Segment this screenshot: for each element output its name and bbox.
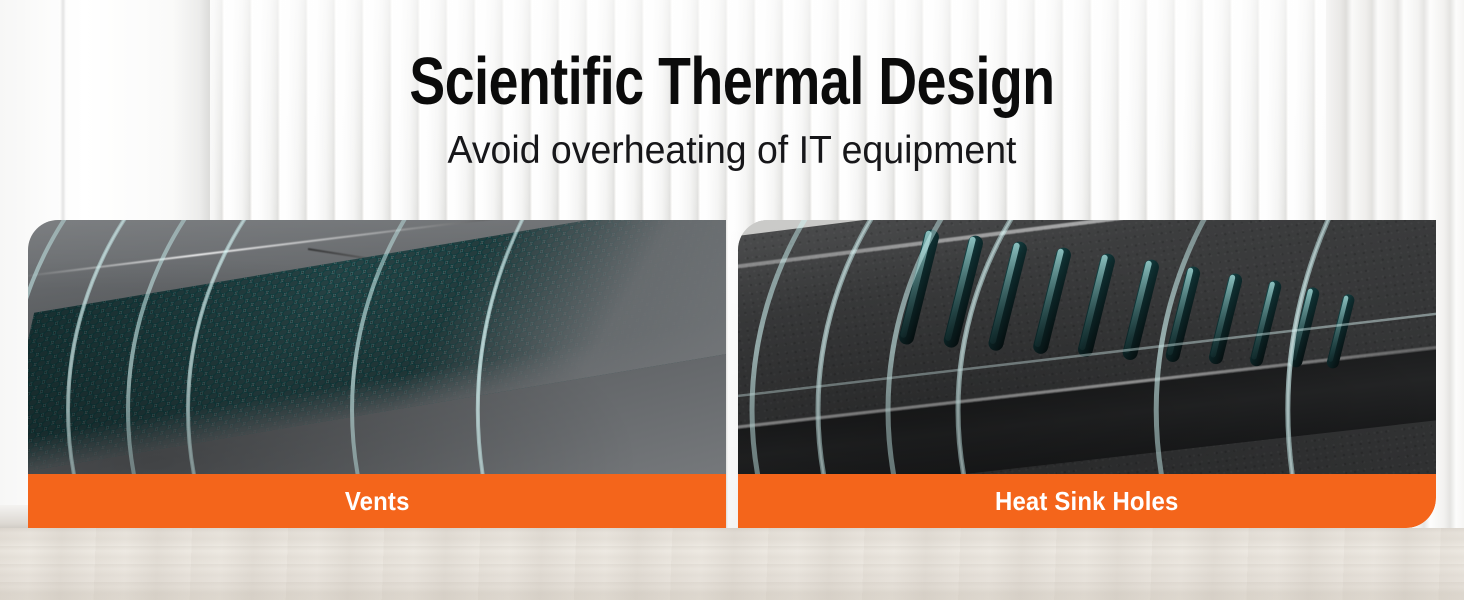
vents-photo bbox=[28, 220, 726, 474]
card-heat-sink-holes: Heat Sink Holes bbox=[738, 220, 1436, 528]
wood-floor bbox=[0, 528, 1464, 600]
card-vents: Vents bbox=[28, 220, 726, 528]
vents-caption-bar: Vents bbox=[28, 474, 726, 528]
vents-photo-vignette bbox=[28, 220, 726, 474]
heat-sink-caption-label: Heat Sink Holes bbox=[995, 486, 1179, 517]
heat-sink-caption-bar: Heat Sink Holes bbox=[738, 474, 1436, 528]
page-subtitle: Avoid overheating of IT equipment bbox=[29, 130, 1434, 173]
heat-sink-photo bbox=[738, 220, 1436, 474]
page-title: Scientific Thermal Design bbox=[146, 48, 1317, 115]
promo-banner: Scientific Thermal Design Avoid overheat… bbox=[0, 0, 1464, 600]
heat-sink-photo-vignette bbox=[738, 220, 1436, 474]
vents-caption-label: Vents bbox=[345, 486, 410, 517]
